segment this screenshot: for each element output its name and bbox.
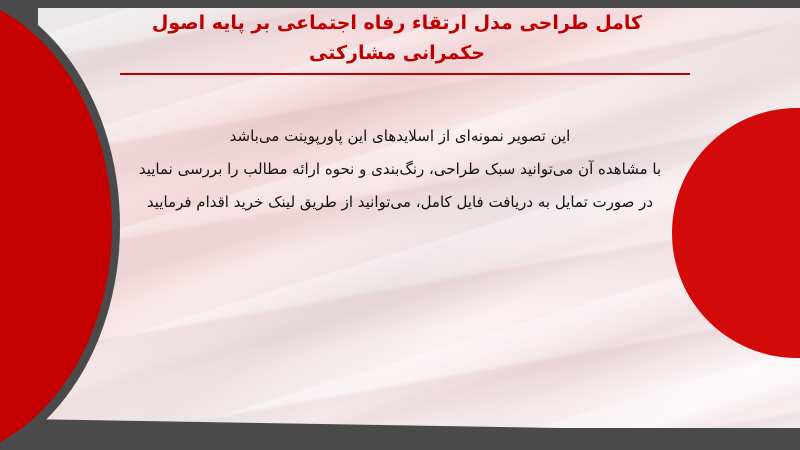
- slide-body-text: این تصویر نمونه‌ای از اسلایدهای این پاور…: [120, 120, 680, 219]
- bottom-dark-strip: [0, 428, 800, 450]
- body-line-2: با مشاهده آن می‌توانید سبک طراحی، رنگ‌بن…: [120, 153, 680, 186]
- slide-title-line-1: کامل طراحی مدل ارتقاء رفاه اجتماعی بر پا…: [102, 8, 692, 38]
- presentation-slide: کامل طراحی مدل ارتقاء رفاه اجتماعی بر پا…: [0, 0, 800, 450]
- slide-title: کامل طراحی مدل ارتقاء رفاه اجتماعی بر پا…: [102, 8, 692, 68]
- body-line-3: در صورت تمایل به دریافت فایل کامل، می‌تو…: [120, 186, 680, 219]
- slide-title-line-2: حکمرانی مشارکتی: [102, 38, 692, 68]
- title-divider-rule: [120, 73, 690, 75]
- body-line-1: این تصویر نمونه‌ای از اسلایدهای این پاور…: [120, 120, 680, 153]
